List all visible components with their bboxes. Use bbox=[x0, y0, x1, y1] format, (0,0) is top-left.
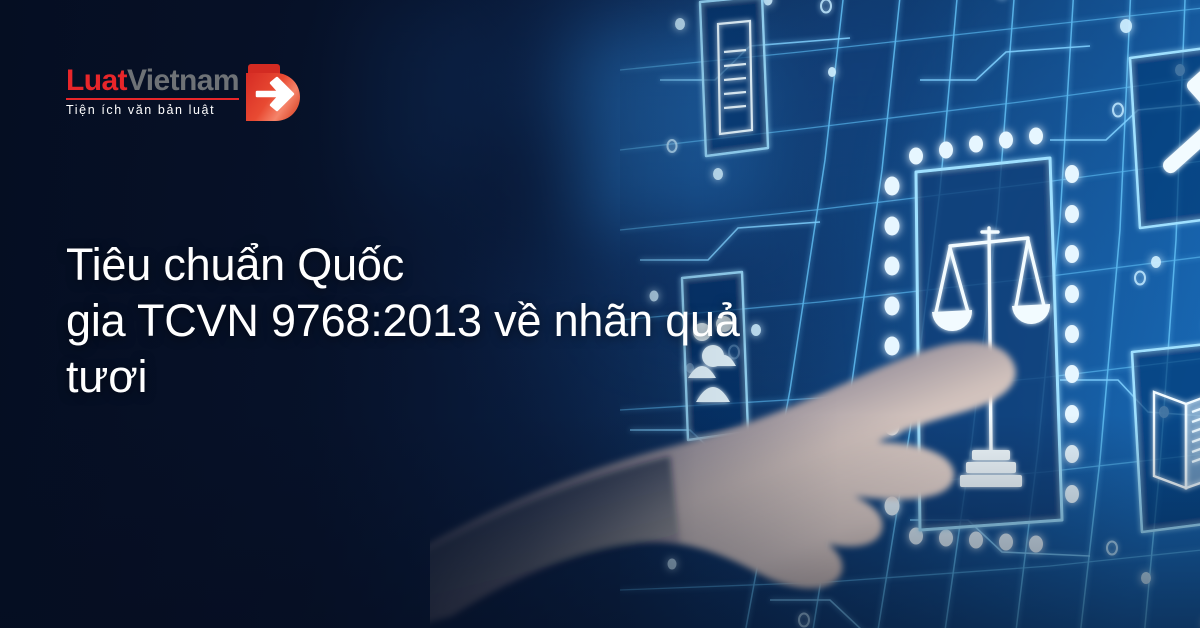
page-title: Tiêu chuẩn Quốc gia TCVN 9768:2013 về nh… bbox=[66, 237, 826, 405]
headline-line-2: gia TCVN 9768:2013 về nhãn quả bbox=[66, 293, 826, 349]
logo-wordmark: LuatVietnam bbox=[66, 66, 239, 96]
logo-word-luat: Luat bbox=[66, 64, 127, 97]
logo-tagline: Tiện ích văn bản luật bbox=[66, 103, 239, 118]
logo-word-vietnam: Vietnam bbox=[127, 64, 239, 97]
headline-line-1: Tiêu chuẩn Quốc bbox=[66, 237, 826, 293]
headline-line-3: tươi bbox=[66, 349, 826, 405]
article-banner: LuatVietnam Tiện ích văn bản luật bbox=[0, 0, 1200, 628]
luatvietnam-logo[interactable]: LuatVietnam Tiện ích văn bản luật bbox=[66, 62, 309, 126]
logo-divider bbox=[66, 98, 239, 100]
folder-arrow-right-icon bbox=[243, 60, 309, 126]
logo-text-block: LuatVietnam Tiện ích văn bản luật bbox=[66, 62, 239, 118]
